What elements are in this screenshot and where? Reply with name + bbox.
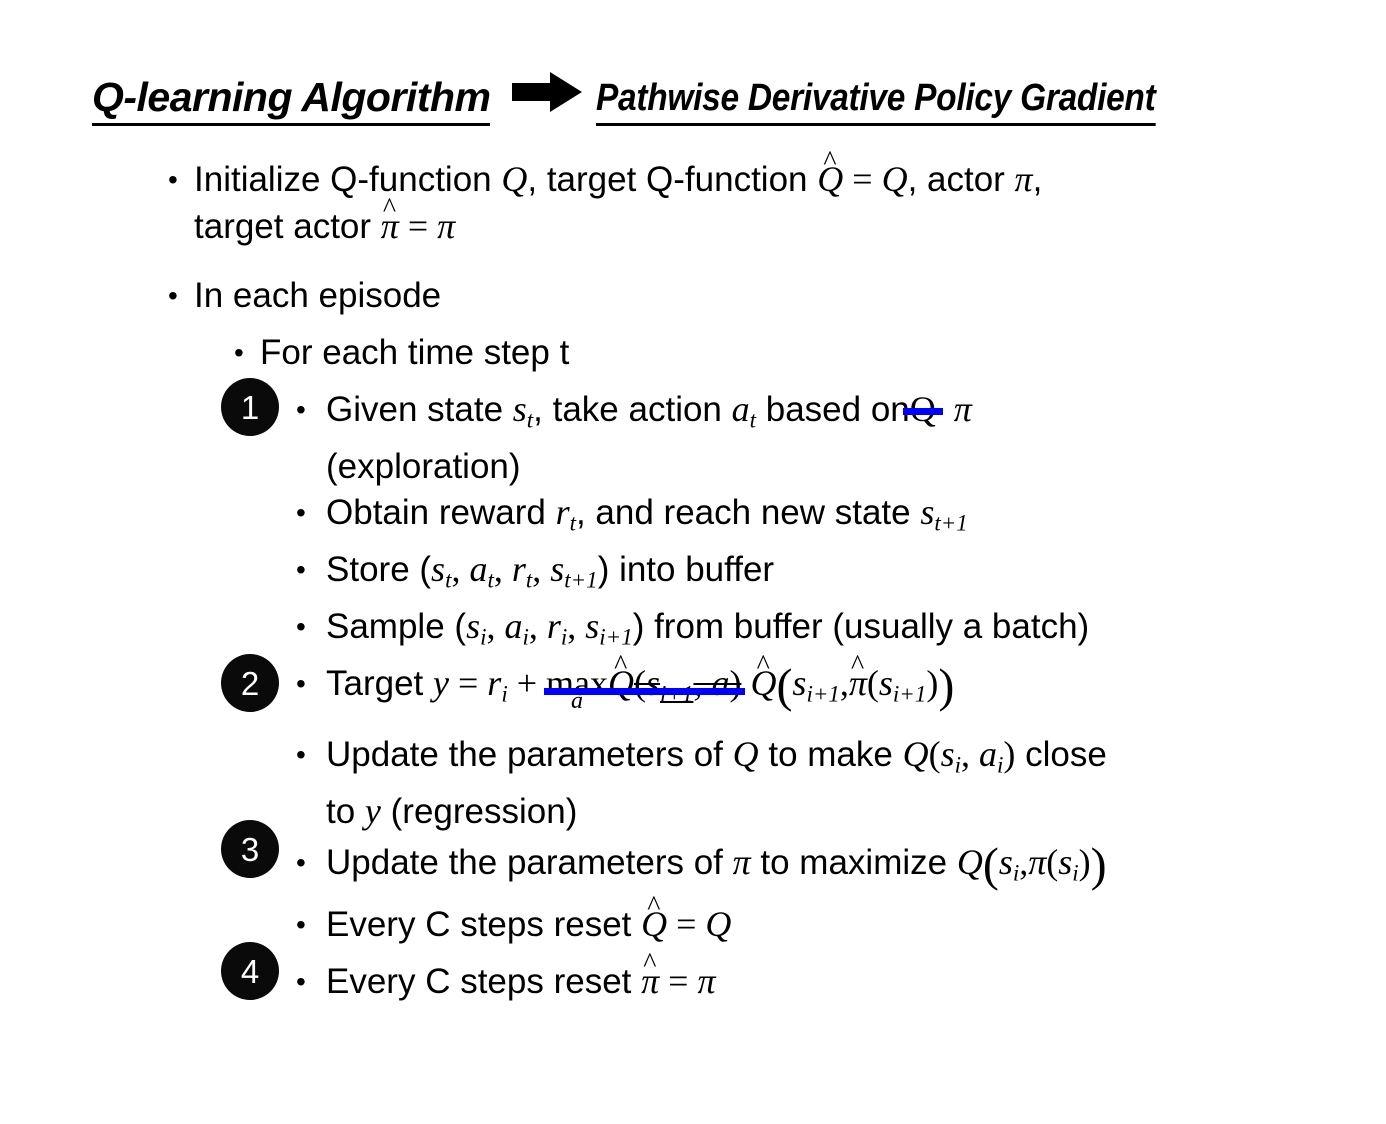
math-pi: π [1015, 159, 1033, 199]
math-Q: Q [501, 159, 527, 199]
math-equals: = [449, 663, 487, 703]
bullet-obtain-reward: • Obtain reward rt, and reach new state … [296, 489, 968, 546]
text-run: to [326, 792, 365, 831]
text-run: to make [759, 735, 903, 774]
math-paren: ) [926, 663, 938, 703]
bullet-update-q-params: • Update the parameters of Q to make Q(s… [296, 731, 1107, 835]
bullet-store-transition-text: Store (st, at, rt, st+1) into buffer [326, 546, 774, 603]
math-a: a [504, 606, 522, 646]
title-right-pathwise: Pathwise Derivative Policy Gradient [596, 79, 1155, 126]
text-run: to maximize [751, 843, 957, 882]
math-subscript: i+1 [599, 624, 632, 649]
bullet-initialize: • Initialize Q-function Q, target Q-func… [168, 156, 1042, 250]
math-r: r [512, 549, 526, 589]
arrow-shaft [512, 83, 554, 101]
text-run: Every C steps reset [326, 905, 641, 944]
bullet-dot-icon: • [296, 901, 326, 948]
bullet-given-state: • Given state st, take action at based o… [296, 386, 972, 490]
text-run: Target [326, 664, 433, 703]
math-s: s [792, 663, 806, 703]
text-run: Obtain reward [326, 493, 556, 532]
math-paren: ( [776, 660, 792, 713]
bullet-initialize-text: Initialize Q-function Q, target Q-functi… [194, 156, 1042, 250]
math-subscript: t+1 [934, 510, 967, 535]
bullet-update-q-params-text: Update the parameters of Q to make Q(si,… [326, 731, 1107, 835]
hat-accent-icon: ^ [823, 148, 836, 176]
text-run: target actor [194, 207, 381, 246]
text-run: , actor [908, 160, 1015, 199]
math-max-operator: maxa [546, 665, 608, 701]
bullet-store-transition: • Store (st, at, rt, st+1) into buffer [296, 546, 774, 603]
hat-accent-icon: ^ [614, 652, 627, 680]
bullet-dot-icon: • [296, 731, 326, 778]
bullet-reset-target-pi: • Every C steps reset π^ = π [296, 958, 716, 1005]
math-s: s [585, 606, 599, 646]
math-s: s [1058, 842, 1072, 882]
hat-accent-icon: ^ [643, 950, 656, 978]
math-subscript: t+1 [564, 567, 597, 592]
hat-accent-icon: ^ [851, 652, 864, 680]
math-s: s [431, 549, 445, 589]
text-run: , and reach new state [576, 493, 920, 532]
hat-accent-icon: ^ [383, 195, 396, 223]
bullet-reset-target-pi-text: Every C steps reset π^ = π [326, 958, 716, 1005]
step-badge-2-label: 2 [241, 667, 259, 700]
text-run: ) from buffer (usually a batch) [633, 607, 1090, 646]
math-comma: , [693, 663, 711, 703]
step-badge-4-label: 4 [241, 955, 259, 988]
slide-title: Q-learning Algorithm Pathwise Derivative… [92, 72, 1232, 126]
bullet-update-pi-params-text: Update the parameters of π to maximize Q… [326, 839, 1107, 896]
math-Q: Q [705, 904, 731, 944]
math-paren: ) [938, 660, 954, 713]
math-subscript: i+1 [893, 681, 926, 706]
right-block-arrow-icon [512, 72, 582, 112]
text-run: Sample ( [326, 607, 466, 646]
bullet-target-y: • Target y = ri + maxaQ^(si+1, a) Q^(si+… [296, 660, 954, 717]
slide-canvas: Q-learning Algorithm Pathwise Derivative… [0, 0, 1386, 1124]
bullet-dot-icon: • [296, 386, 326, 433]
math-Q-hat: Q^ [750, 660, 776, 707]
math-comma: , [529, 606, 547, 646]
math-paren: ( [1046, 842, 1058, 882]
math-paren: ) [1091, 839, 1107, 892]
text-run: Update the parameters of [326, 843, 733, 882]
math-a: a [732, 389, 750, 429]
bullet-in-each-episode-text: In each episode [194, 272, 441, 319]
math-s: s [999, 842, 1013, 882]
math-comma: , [840, 663, 849, 703]
bullet-sample-batch: • Sample (si, ai, ri, si+1) from buffer … [296, 603, 1089, 660]
math-paren: ) [1079, 842, 1091, 882]
bullet-sample-batch-text: Sample (si, ai, ri, si+1) from buffer (u… [326, 603, 1089, 660]
math-a: a [469, 549, 487, 589]
math-pi-hat: π^ [381, 203, 399, 250]
math-a: a [711, 663, 729, 703]
math-plus: + [508, 663, 546, 703]
math-Q: Q [903, 734, 929, 774]
bullet-dot-icon: • [168, 156, 194, 203]
bullet-for-each-time-step: • For each time step t [234, 329, 569, 376]
math-r: r [487, 663, 501, 703]
math-comma: , [567, 606, 585, 646]
math-s: s [466, 606, 480, 646]
arrow-head [550, 72, 582, 112]
math-paren: ( [983, 839, 999, 892]
text-run: , target Q-function [527, 160, 817, 199]
struck-out-Q: Q [910, 386, 936, 433]
math-pi-hat: π^ [849, 660, 867, 707]
text-run: Update the parameters of [326, 735, 733, 774]
text-run: Every C steps reset [326, 962, 641, 1001]
math-s: s [513, 389, 527, 429]
step-badge-1: 1 [221, 378, 279, 436]
text-run: close [1015, 735, 1106, 774]
math-comma: , [532, 549, 550, 589]
math-y: y [433, 663, 449, 703]
math-paren: ( [867, 663, 879, 703]
math-Q: Q [733, 734, 759, 774]
math-pi-hat: π^ [641, 958, 659, 1005]
text-run: (exploration) [326, 447, 521, 486]
math-comma: , [486, 606, 504, 646]
math-equals: = [659, 961, 697, 1001]
bullet-given-state-text: Given state st, take action at based onQ… [326, 386, 972, 490]
math-subscript: i+1 [806, 681, 839, 706]
transition-arrow [490, 72, 596, 126]
text-run: (regression) [381, 792, 577, 831]
math-subscript: i+1 [660, 681, 693, 706]
math-pi: π [733, 842, 751, 882]
step-badge-2: 2 [221, 654, 279, 712]
bullet-target-y-text: Target y = ri + maxaQ^(si+1, a) Q^(si+1,… [326, 660, 954, 717]
math-equals: = [843, 159, 881, 199]
math-Q-hat: Q^ [608, 660, 634, 707]
text-run: Initialize Q-function [194, 160, 501, 199]
bullet-for-each-time-step-text: For each time step t [260, 329, 569, 376]
math-paren: ( [634, 663, 646, 703]
step-badge-1-label: 1 [241, 391, 259, 424]
math-comma: , [494, 549, 512, 589]
text-run: , take action [533, 390, 731, 429]
struck-out-max-Q-term: maxaQ^(si+1, a) [546, 660, 741, 717]
math-s: s [550, 549, 564, 589]
bullet-dot-icon: • [296, 489, 326, 536]
math-comma: , [1019, 842, 1028, 882]
math-Q: Q [882, 159, 908, 199]
math-r: r [556, 492, 570, 532]
math-max-limit: a [546, 689, 608, 713]
math-comma: , [961, 734, 979, 774]
math-Q-hat: Q^ [817, 156, 843, 203]
bullet-dot-icon: • [296, 546, 326, 593]
hat-accent-icon: ^ [757, 652, 770, 680]
math-paren: ( [929, 734, 941, 774]
bullet-dot-icon: • [296, 603, 326, 650]
math-paren: ) [729, 663, 741, 703]
bullet-obtain-reward-text: Obtain reward rt, and reach new state st… [326, 489, 968, 546]
step-badge-3: 3 [221, 820, 279, 878]
math-s: s [941, 734, 955, 774]
math-r: r [547, 606, 561, 646]
step-badge-3-label: 3 [241, 833, 259, 866]
hat-accent-icon: ^ [647, 893, 660, 921]
math-equals: = [399, 206, 437, 246]
text-run: , [1033, 160, 1043, 199]
math-s: s [646, 663, 660, 703]
bullet-dot-icon: • [296, 958, 326, 1005]
bullet-reset-target-q: • Every C steps reset Q^ = Q [296, 901, 731, 948]
bullet-dot-icon: • [168, 272, 194, 319]
math-a: a [979, 734, 997, 774]
bullet-dot-icon: • [296, 660, 326, 707]
math-pi: π [437, 206, 455, 246]
math-s: s [920, 492, 934, 532]
text-run: Given state [326, 390, 513, 429]
math-pi: π [1028, 842, 1046, 882]
bullet-update-pi-params: • Update the parameters of π to maximize… [296, 839, 1107, 896]
math-comma: , [451, 549, 469, 589]
math-y: y [365, 791, 381, 831]
math-pi: π [954, 389, 972, 429]
math-Q-hat: Q^ [641, 901, 667, 948]
bullet-dot-icon: • [234, 329, 260, 376]
math-paren: ) [1003, 734, 1015, 774]
text-run: Store ( [326, 550, 431, 589]
math-s: s [879, 663, 893, 703]
math-equals: = [667, 904, 705, 944]
bullet-dot-icon: • [296, 839, 326, 886]
title-left-qlearning: Q-learning Algorithm [92, 77, 490, 126]
text-run: based on [756, 390, 910, 429]
bullet-reset-target-q-text: Every C steps reset Q^ = Q [326, 901, 731, 948]
bullet-in-each-episode: • In each episode [168, 272, 441, 319]
blue-strikethrough-mark [903, 408, 943, 415]
text-run: ) into buffer [598, 550, 774, 589]
step-badge-4: 4 [221, 942, 279, 1000]
math-Q: Q [957, 842, 983, 882]
math-pi: π [697, 961, 715, 1001]
